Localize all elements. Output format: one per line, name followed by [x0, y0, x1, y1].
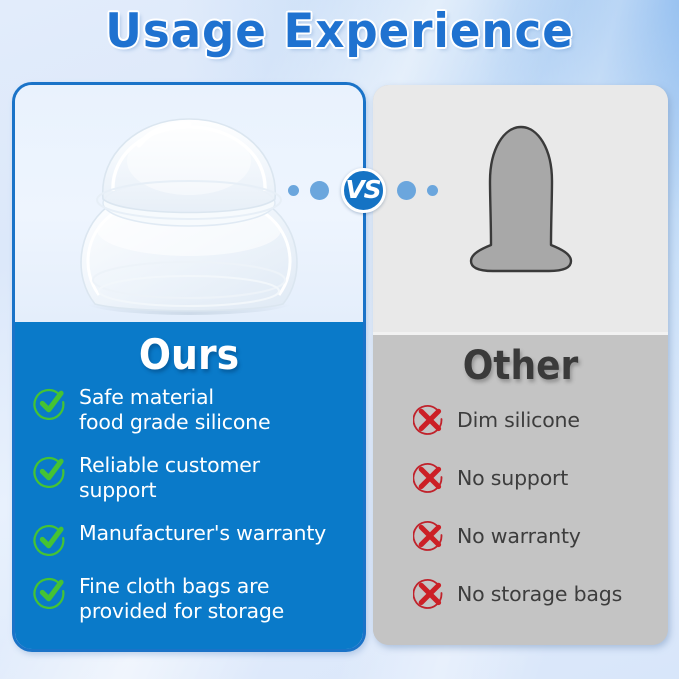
ours-heading: Ours: [32, 330, 345, 379]
cross-circle-icon: [413, 519, 446, 552]
list-item-label: Safe material food grade silicone: [79, 385, 270, 435]
check-circle-icon: [33, 454, 67, 488]
list-item: No support: [413, 461, 658, 494]
list-item-label: No storage bags: [457, 582, 622, 606]
gray-cup-silhouette-icon: [457, 121, 585, 276]
comparison-infographic: Usage Experience: [0, 0, 679, 679]
list-item-label: No warranty: [457, 524, 581, 548]
list-item-label: No support: [457, 466, 568, 490]
list-item: No storage bags: [413, 577, 658, 610]
cross-circle-icon: [413, 577, 446, 610]
other-panel: Other Dim silicone No support: [373, 335, 668, 645]
other-card: Other Dim silicone No support: [373, 85, 668, 645]
check-circle-icon: [33, 575, 67, 609]
list-item-label: Reliable customer support: [79, 453, 260, 503]
list-item: Safe material food grade silicone: [33, 385, 349, 435]
list-item: Fine cloth bags are provided for storage: [33, 574, 349, 624]
ours-benefit-list: Safe material food grade silicone Reliab…: [15, 385, 363, 624]
ours-product-photo: [15, 85, 363, 322]
other-heading: Other: [388, 343, 654, 389]
check-circle-icon: [33, 522, 67, 556]
cross-circle-icon: [413, 461, 446, 494]
silicone-cup-image: [55, 99, 323, 315]
list-item-label: Manufacturer's warranty: [79, 521, 326, 546]
list-item: Dim silicone: [413, 403, 658, 436]
other-product-photo: [373, 85, 668, 335]
other-drawback-list: Dim silicone No support No warranty: [373, 403, 668, 610]
list-item: No warranty: [413, 519, 658, 552]
check-circle-icon: [33, 386, 67, 420]
list-item: Manufacturer's warranty: [33, 521, 349, 556]
list-item-label: Dim silicone: [457, 408, 580, 432]
page-title: Usage Experience: [14, 4, 666, 59]
ours-panel: Ours Safe material food grade silicone R…: [15, 322, 363, 649]
list-item-label: Fine cloth bags are provided for storage: [79, 574, 284, 624]
list-item: Reliable customer support: [33, 453, 349, 503]
ours-card: Ours Safe material food grade silicone R…: [12, 82, 366, 652]
cross-circle-icon: [413, 403, 446, 436]
